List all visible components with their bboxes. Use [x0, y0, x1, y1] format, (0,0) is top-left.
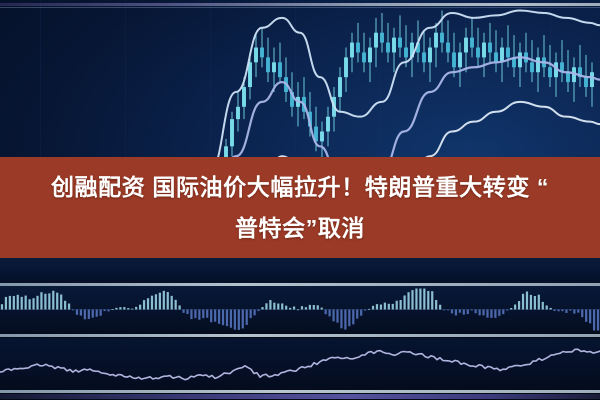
- headline-banner: 创融配资 国际油价大幅拉升！特朗普重大转变 “ 普特会”取消: [0, 157, 600, 258]
- headline-line-1: 创融配资 国际油价大幅拉升！特朗普重大转变 “: [51, 167, 549, 208]
- panel-gap-strip: [0, 258, 600, 283]
- bottom-rule-line: [0, 390, 600, 393]
- indicator-line-panel: [0, 338, 600, 392]
- screenshot-canvas: 创融配资 国际油价大幅拉升！特朗普重大转变 “ 普特会”取消: [0, 0, 600, 400]
- top-rule-line-secondary: [0, 7, 600, 8]
- headline-line-2: 普特会”取消: [235, 208, 365, 249]
- gap-strip-svg: [0, 258, 600, 283]
- indicator-line-svg: [0, 338, 600, 392]
- macd-histogram-panel: [0, 286, 600, 333]
- macd-histogram-svg: [0, 286, 600, 333]
- separator-above-macd: [0, 283, 600, 286]
- bottom-violet-bar: [0, 394, 600, 399]
- separator-below-macd: [0, 334, 600, 337]
- top-rule-line: [0, 3, 600, 6]
